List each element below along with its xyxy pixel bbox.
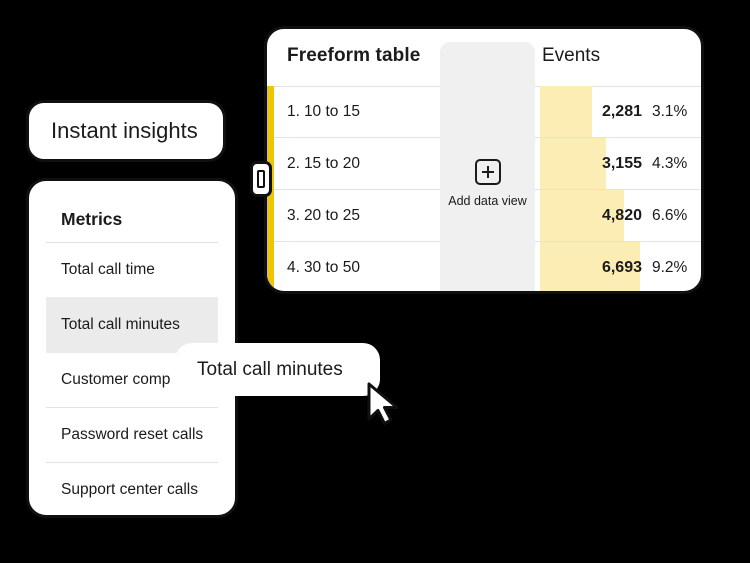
row-label: 1.10 to 15 [287, 103, 360, 121]
row-value: 6,693 [570, 259, 642, 277]
row-label: 4.30 to 50 [287, 259, 360, 277]
metrics-item-label: Password reset calls [61, 426, 203, 444]
row-percent: 3.1% [652, 103, 704, 121]
row-percent: 9.2% [652, 259, 704, 277]
metrics-item-label: Total call minutes [61, 316, 180, 334]
metrics-item-label: Support center calls [61, 481, 198, 499]
metrics-title: Metrics [61, 209, 122, 230]
tooltip: Total call minutes [175, 343, 380, 396]
metrics-list-item[interactable]: Password reset calls [46, 407, 218, 462]
row-percent: 4.3% [652, 155, 704, 173]
column-header-events: Events [542, 45, 600, 67]
row-name: 30 to 50 [304, 259, 360, 276]
instant-insights-pill[interactable]: Instant insights [26, 100, 226, 162]
add-data-view-label: Add data view [440, 194, 535, 208]
metrics-item-label: Total call time [61, 261, 155, 279]
row-rank: 3. [287, 207, 300, 224]
row-label: 2.15 to 20 [287, 155, 360, 173]
row-percent: 6.6% [652, 207, 704, 225]
mouse-pointer-icon [366, 382, 402, 426]
tooltip-label: Total call minutes [175, 359, 343, 381]
row-name: 15 to 20 [304, 155, 360, 172]
table-title: Freeform table [287, 45, 420, 67]
row-rank: 1. [287, 103, 300, 120]
row-value: 4,820 [570, 207, 642, 225]
row-rank: 4. [287, 259, 300, 276]
row-value: 2,281 [570, 103, 642, 121]
metrics-list-item[interactable]: Total call time [46, 242, 218, 297]
row-rank: 2. [287, 155, 300, 172]
row-value: 3,155 [570, 155, 642, 173]
panel-collapse-handle-icon[interactable] [250, 161, 272, 197]
add-data-view-column[interactable]: Add data view [440, 42, 535, 291]
plus-icon[interactable] [475, 159, 501, 185]
row-label: 3.20 to 25 [287, 207, 360, 225]
row-name: 10 to 15 [304, 103, 360, 120]
row-name: 20 to 25 [304, 207, 360, 224]
freeform-table-card: Freeform table Events 1.10 to 152,2813.1… [264, 26, 704, 294]
instant-insights-label: Instant insights [29, 118, 198, 144]
metrics-item-label: Customer comp [61, 371, 170, 389]
metrics-list-item[interactable]: Support center calls [46, 462, 218, 517]
canvas: Freeform table Events 1.10 to 152,2813.1… [0, 0, 750, 563]
